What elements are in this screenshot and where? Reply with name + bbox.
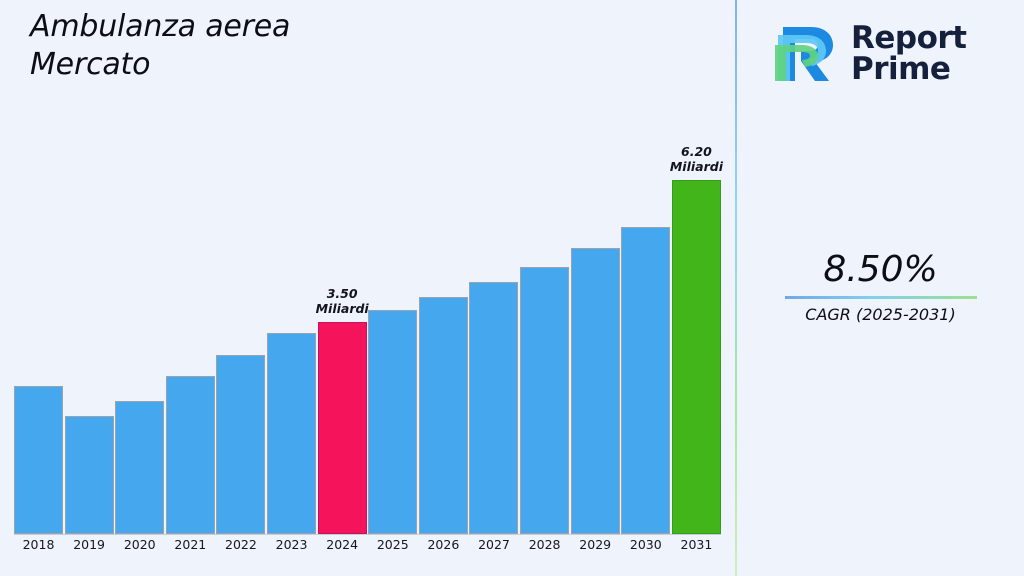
bar-2018 xyxy=(14,386,63,534)
bar-2028 xyxy=(520,267,569,534)
bar-2029 xyxy=(571,248,620,534)
bar-slot: 3.50 Miliardi xyxy=(318,114,367,534)
bar-slot: 6.20 Miliardi xyxy=(672,114,721,534)
brand-panel: Report Prime 8.50% CAGR (2025-2031) xyxy=(737,0,1024,576)
bar-chart-plot: 3.50 Miliardi xyxy=(0,110,735,535)
xtick: 2021 xyxy=(166,537,215,552)
brand-name: Report Prime xyxy=(851,23,967,85)
bar-slot xyxy=(571,114,620,534)
bar-2026 xyxy=(419,297,468,534)
brand-name-line2: Prime xyxy=(851,51,950,87)
xtick: 2030 xyxy=(621,537,670,552)
cagr-caption: CAGR (2025-2031) xyxy=(737,305,1024,324)
xtick: 2029 xyxy=(571,537,620,552)
bar-series: 3.50 Miliardi xyxy=(14,114,721,534)
chart-panel: Ambulanza aerea Mercato xyxy=(0,0,735,576)
bar-slot xyxy=(65,114,114,534)
bar-2020 xyxy=(115,401,164,534)
bar-slot xyxy=(14,114,63,534)
xtick: 2028 xyxy=(520,537,569,552)
bar-2027 xyxy=(469,282,518,534)
xtick: 2031 xyxy=(672,537,721,552)
bar-2021 xyxy=(166,376,215,534)
xtick: 2026 xyxy=(419,537,468,552)
bar-slot xyxy=(166,114,215,534)
xtick: 2025 xyxy=(368,537,417,552)
bar-slot xyxy=(115,114,164,534)
xtick: 2024 xyxy=(318,537,367,552)
xtick: 2023 xyxy=(267,537,316,552)
x-axis-tick-labels: 2018 2019 2020 2021 2022 2023 2024 2025 … xyxy=(14,537,721,552)
bar-slot xyxy=(216,114,265,534)
bar-slot xyxy=(469,114,518,534)
bar-slot xyxy=(419,114,468,534)
bar-slot xyxy=(267,114,316,534)
bar-slot xyxy=(621,114,670,534)
bar-2031 xyxy=(672,180,721,534)
bar-2022 xyxy=(216,355,265,534)
xtick: 2027 xyxy=(469,537,518,552)
cagr-block: 8.50% CAGR (2025-2031) xyxy=(737,250,1024,324)
brand-logo: Report Prime xyxy=(775,14,1005,94)
page-title: Ambulanza aerea Mercato xyxy=(30,8,630,84)
bar-2030 xyxy=(621,227,670,534)
bar-slot xyxy=(368,114,417,534)
bar-2024 xyxy=(318,322,367,534)
bar-2023 xyxy=(267,333,316,534)
bar-2019 xyxy=(65,416,114,534)
cagr-value: 8.50% xyxy=(737,250,1024,290)
xtick: 2022 xyxy=(216,537,265,552)
xtick: 2020 xyxy=(115,537,164,552)
bar-2025 xyxy=(368,310,417,534)
x-axis-line xyxy=(14,534,721,535)
xtick: 2018 xyxy=(14,537,63,552)
report-prime-logo-icon xyxy=(775,23,841,85)
chart-page: Ambulanza aerea Mercato xyxy=(0,0,1024,576)
cagr-divider xyxy=(785,296,977,299)
xtick: 2019 xyxy=(65,537,114,552)
bar-slot xyxy=(520,114,569,534)
